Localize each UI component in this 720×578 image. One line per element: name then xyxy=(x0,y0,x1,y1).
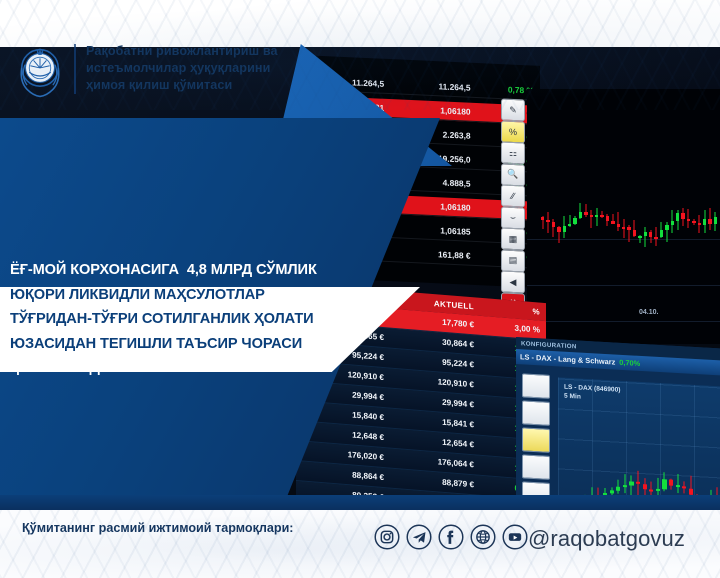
organization-name: Рақобатни ривожлантириш ва истеъмолчилар… xyxy=(86,43,301,94)
candlestick xyxy=(714,212,717,231)
tool-zoom-icon[interactable]: 🔍 xyxy=(501,163,525,186)
tool-curve-icon[interactable]: ⌣ xyxy=(501,206,525,229)
price-aktuell: 176,064 € xyxy=(391,454,481,470)
footer-label: Қўмитанинг расмий ижтимоий тармоқлари: xyxy=(22,519,332,537)
tool-cursor-icon[interactable] xyxy=(522,373,550,399)
telegram-icon[interactable] xyxy=(406,524,432,550)
tool-sound-icon[interactable]: ◀ xyxy=(501,270,525,293)
page-footer: Қўмитанинг расмий ижтимоий тармоқлари: xyxy=(0,510,720,578)
candlestick xyxy=(623,474,627,494)
chart-axis-date: 04.10. xyxy=(639,309,658,316)
candlestick xyxy=(676,210,679,230)
candlestick xyxy=(552,219,555,237)
candlestick xyxy=(541,216,544,229)
candlestick xyxy=(616,479,620,494)
candlestick xyxy=(660,222,663,238)
candlestick xyxy=(669,479,673,490)
candlestick xyxy=(617,212,620,231)
website-globe-icon[interactable] xyxy=(470,524,496,550)
candlestick xyxy=(682,481,686,493)
candlestick xyxy=(590,210,593,228)
price-aktuell: 15,841 € xyxy=(391,414,481,430)
window-change: 0,70% xyxy=(619,358,640,368)
ticker-ask: 1,06185 xyxy=(391,223,477,237)
tool-slash-icon[interactable]: ∕∕ xyxy=(501,184,525,207)
candlestick xyxy=(633,220,636,237)
headline-line-3: ТЎҒРИДАН-ТЎҒРИ СОТИЛГАНЛИК ҲОЛАТИ xyxy=(10,307,430,332)
social-handle: @raqobatgovuz xyxy=(528,526,685,552)
candlestick xyxy=(681,208,684,226)
col-percent: % xyxy=(481,302,546,316)
tool-stats-icon[interactable]: ⚏ xyxy=(501,141,525,164)
candlestick xyxy=(708,208,711,229)
candlestick xyxy=(687,209,690,228)
tool-highlight-icon[interactable] xyxy=(522,427,550,453)
headline-line-5: ҚЎЛЛАНИЛДИ xyxy=(10,356,430,381)
price-aktuell: 12,654 € xyxy=(391,434,481,450)
candlestick xyxy=(568,215,571,227)
series-label: LS - DAX (846900)5 Min xyxy=(564,384,620,405)
candlestick xyxy=(636,471,640,497)
candlestick xyxy=(703,210,706,233)
candlestick xyxy=(676,474,680,494)
facebook-icon[interactable] xyxy=(438,524,464,550)
chart-window-dax: KONFIGURATION LS - DAX - Lang & Schwarz … xyxy=(516,337,720,510)
window-title: LS - DAX - Lang & Schwarz xyxy=(520,352,615,366)
candlestick-chart-top: 04.10. xyxy=(527,89,720,344)
youtube-icon[interactable] xyxy=(502,524,528,550)
candlestick xyxy=(573,216,576,225)
candlestick xyxy=(649,481,653,496)
candlestick xyxy=(557,226,560,243)
candlestick xyxy=(563,216,566,238)
headline-line-1: ЁҒ-МОЙ КОРХОНАСИГА 4,8 МЛРД СЎМЛИК xyxy=(10,258,430,283)
chart-toolbar[interactable]: ✎%⚏🔍∕∕⌣▦▤◀✖ xyxy=(500,98,527,314)
price-aktuell: 88,879 € xyxy=(391,474,481,490)
footer-divider-strip xyxy=(0,495,720,511)
chart-tool-column[interactable] xyxy=(522,373,552,510)
uzbekistan-state-emblem xyxy=(13,40,67,98)
social-links[interactable] xyxy=(374,524,528,550)
price-change: 3,00 % xyxy=(481,321,546,335)
candlestick xyxy=(600,211,603,218)
tool-line-icon[interactable] xyxy=(522,454,550,480)
candlestick xyxy=(622,219,625,238)
candlestick xyxy=(611,214,614,224)
candlestick xyxy=(638,235,641,244)
tool-grid-icon[interactable]: ▤ xyxy=(501,249,525,272)
candlestick xyxy=(665,222,668,242)
header-divider xyxy=(74,44,76,94)
headline-block: ЁҒ-МОЙ КОРХОНАСИГА 4,8 МЛРД СЎМЛИКЮҚОРИ … xyxy=(10,258,430,381)
instagram-icon[interactable] xyxy=(374,524,400,550)
price-ask: 88,864 € xyxy=(296,466,391,483)
tool-chart-icon[interactable]: ▦ xyxy=(501,227,525,250)
price-ask: 176,020 € xyxy=(296,446,391,463)
candlestick xyxy=(584,204,587,217)
candlestick xyxy=(692,219,695,225)
candlestick xyxy=(546,212,549,234)
candlestick xyxy=(671,210,674,234)
candlestick xyxy=(662,472,666,492)
candlestick xyxy=(595,208,598,226)
tool-blank-icon[interactable] xyxy=(522,400,550,426)
candlestick xyxy=(606,214,609,226)
page-header: Рақобатни ривожлантириш ва истеъмолчилар… xyxy=(0,0,720,110)
candlestick xyxy=(627,225,630,242)
candlestick xyxy=(654,227,657,246)
headline-line-4: ЮЗАСИДАН ТЕГИШЛИ ТАЪСИР ЧОРАСИ xyxy=(10,332,430,357)
poster-canvas: 11.264,511.264,50,78 %1,061811,06180-0,2… xyxy=(0,0,720,578)
headline-line-2: ЮҚОРИ ЛИКВИДЛИ МАҲСУЛОТЛАР xyxy=(10,283,430,308)
candlestick xyxy=(649,230,652,243)
price-aktuell: 29,994 € xyxy=(391,394,481,410)
candlestick xyxy=(698,215,701,234)
candlestick xyxy=(644,227,647,247)
candlestick xyxy=(579,203,582,218)
tool-percent-icon[interactable]: % xyxy=(501,120,525,143)
